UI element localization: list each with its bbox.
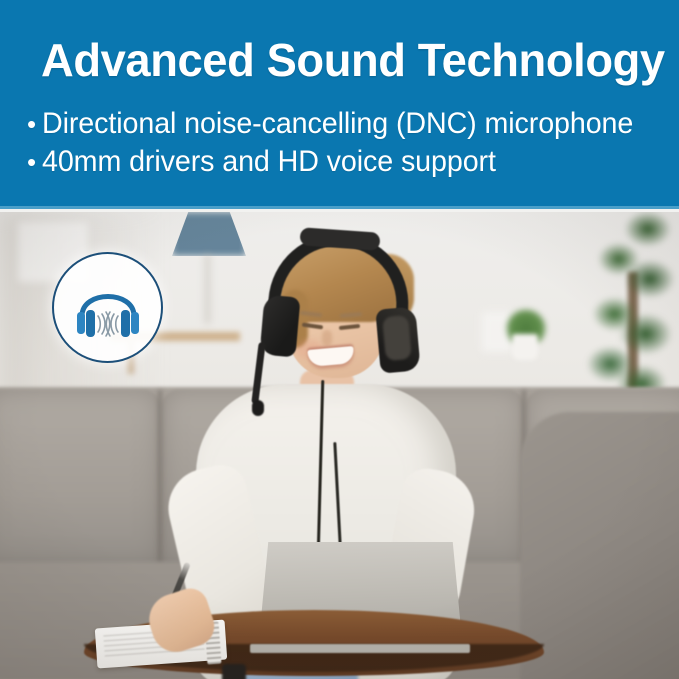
small-plant-pot bbox=[512, 334, 538, 360]
nose bbox=[322, 330, 332, 346]
list-item-label: 40mm drivers and HD voice support bbox=[42, 143, 496, 181]
list-item: • 40mm drivers and HD voice support bbox=[27, 143, 667, 181]
laptop-base bbox=[250, 644, 470, 653]
sofa-armrest bbox=[520, 412, 679, 679]
page-title: Advanced Sound Technology bbox=[41, 31, 632, 89]
sofa-cushion bbox=[0, 390, 160, 565]
table-leg bbox=[222, 664, 246, 679]
list-item-label: Directional noise-cancelling (DNC) micro… bbox=[42, 105, 633, 143]
headset-earcup-cushion bbox=[382, 315, 412, 361]
sofa-seam bbox=[158, 390, 162, 565]
product-feature-card: Advanced Sound Technology • Directional … bbox=[0, 0, 679, 679]
feature-bullet-list: • Directional noise-cancelling (DNC) mic… bbox=[27, 105, 667, 181]
feature-banner: Advanced Sound Technology • Directional … bbox=[0, 0, 679, 206]
list-item: • Directional noise-cancelling (DNC) mic… bbox=[27, 105, 667, 143]
bullet-marker-icon: • bbox=[27, 143, 36, 181]
headset-earcup-left bbox=[259, 295, 300, 358]
lamp-pole bbox=[205, 254, 210, 324]
headphones-soundwave-icon bbox=[66, 266, 150, 350]
headset-microphone bbox=[252, 400, 264, 416]
bullet-marker-icon: • bbox=[27, 105, 36, 143]
headphones-badge bbox=[52, 252, 163, 363]
